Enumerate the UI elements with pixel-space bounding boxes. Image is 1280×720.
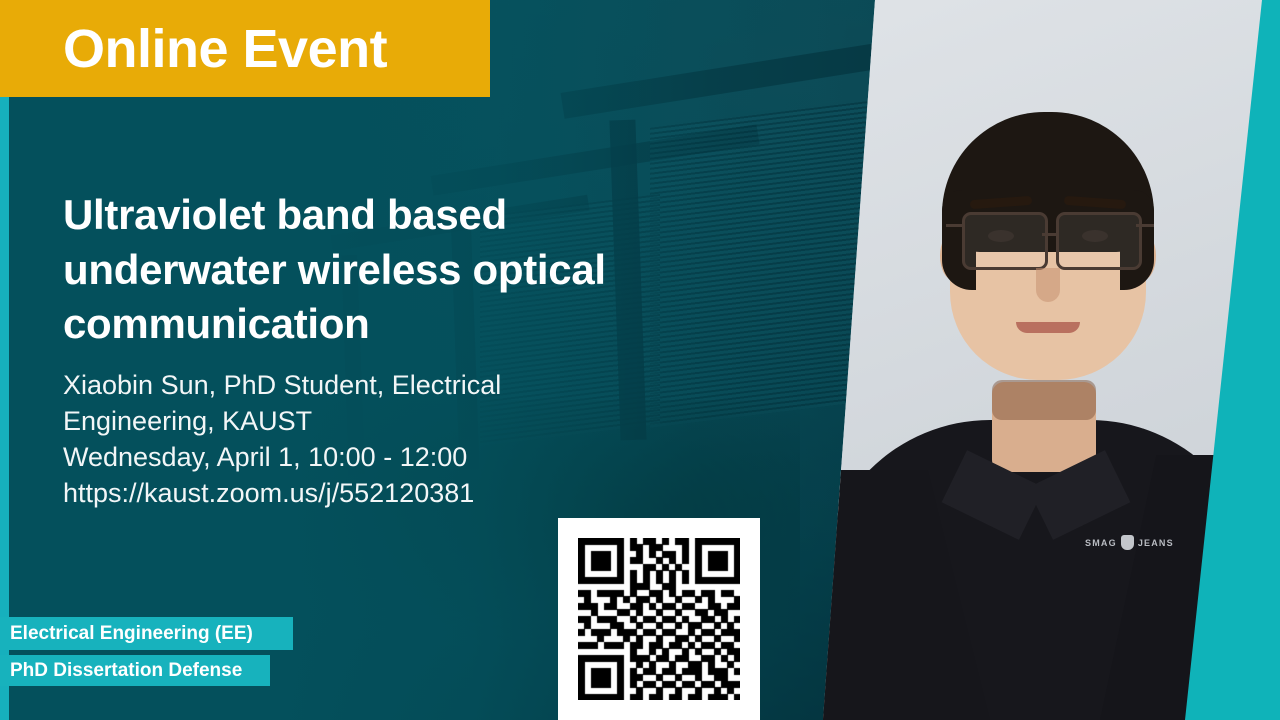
event-poster: Online Event Ultraviolet band based unde…	[0, 0, 1280, 720]
page-title: Ultraviolet band based underwater wirele…	[63, 188, 693, 352]
badge-department: Electrical Engineering (EE)	[0, 617, 293, 650]
badge-event-type: PhD Dissertation Defense	[0, 655, 270, 686]
online-event-banner: Online Event	[0, 0, 490, 97]
banner-label: Online Event	[63, 22, 387, 76]
eyeglass-lens-right	[1056, 212, 1142, 270]
zoom-link[interactable]: https://kaust.zoom.us/j/552120381	[63, 476, 683, 512]
event-details: Xiaobin Sun, PhD Student, Electrical Eng…	[63, 368, 683, 512]
qr-code[interactable]	[558, 518, 760, 720]
qr-code-canvas	[578, 538, 740, 700]
eyeglass-temple-right	[1136, 224, 1154, 227]
eyeglass-lens-left	[962, 212, 1048, 270]
shirt-logo-text-right: JEANS	[1138, 538, 1174, 548]
eyeglass-bridge	[1042, 233, 1058, 236]
shield-icon	[1121, 535, 1134, 550]
shirt-logo-text-left: SMAG	[1085, 538, 1117, 548]
eyeglass-temple-left	[946, 224, 964, 227]
mouth	[1016, 322, 1080, 333]
neck-shadow	[992, 380, 1096, 420]
nose	[1036, 268, 1060, 302]
speaker-affiliation: Engineering, KAUST	[63, 404, 683, 440]
event-datetime: Wednesday, April 1, 10:00 - 12:00	[63, 440, 683, 476]
shirt-brand-logo: SMAG JEANS	[1085, 535, 1174, 550]
speaker-name: Xiaobin Sun, PhD Student, Electrical	[63, 368, 683, 404]
